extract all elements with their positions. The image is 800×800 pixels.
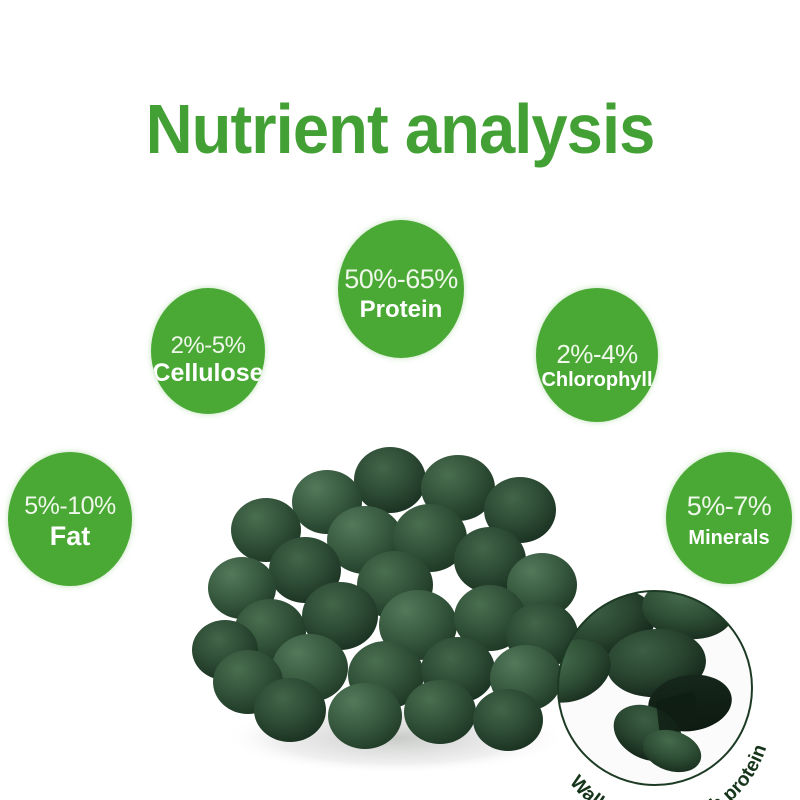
nutrient-name-minerals: Minerals [688,528,769,549]
nutrient-bubble-fat[interactable]: 5%-10% Fat [8,452,132,586]
nutrient-name-protein: Protein [360,297,443,322]
page-title: Nutrient analysis [28,88,772,170]
nutrient-percent-cellulose: 2%-5% [171,334,246,358]
tablet-pile-photo [190,420,590,780]
nutrient-bubble-chlorophyll[interactable]: 2%-4% Chlorophyll [536,288,658,422]
magnifier-circle-illustration [548,575,800,800]
nutrient-bubble-cellulose[interactable]: 2%-5% Cellulose [151,288,265,414]
infographic-canvas: Nutrient analysis [0,0,800,800]
tablet-pile-illustration [190,420,590,780]
nutrient-name-chlorophyll: Chlorophyll [541,370,652,391]
nutrient-bubble-minerals[interactable]: 5%-7% Minerals [666,452,792,584]
nutrient-percent-chlorophyll: 2%-4% [556,341,637,368]
nutrient-percent-minerals: 5%-7% [687,493,772,521]
nutrient-percent-fat: 5%-10% [24,494,116,520]
nutrient-name-fat: Fat [50,522,91,550]
magnifier-content [548,575,800,800]
nutrient-percent-protein: 50%-65% [344,266,458,294]
nutrient-name-cellulose: Cellulose [152,360,263,386]
magnified-tablet-inset [548,575,800,800]
nutrient-bubble-protein[interactable]: 50%-65% Protein [338,220,464,358]
